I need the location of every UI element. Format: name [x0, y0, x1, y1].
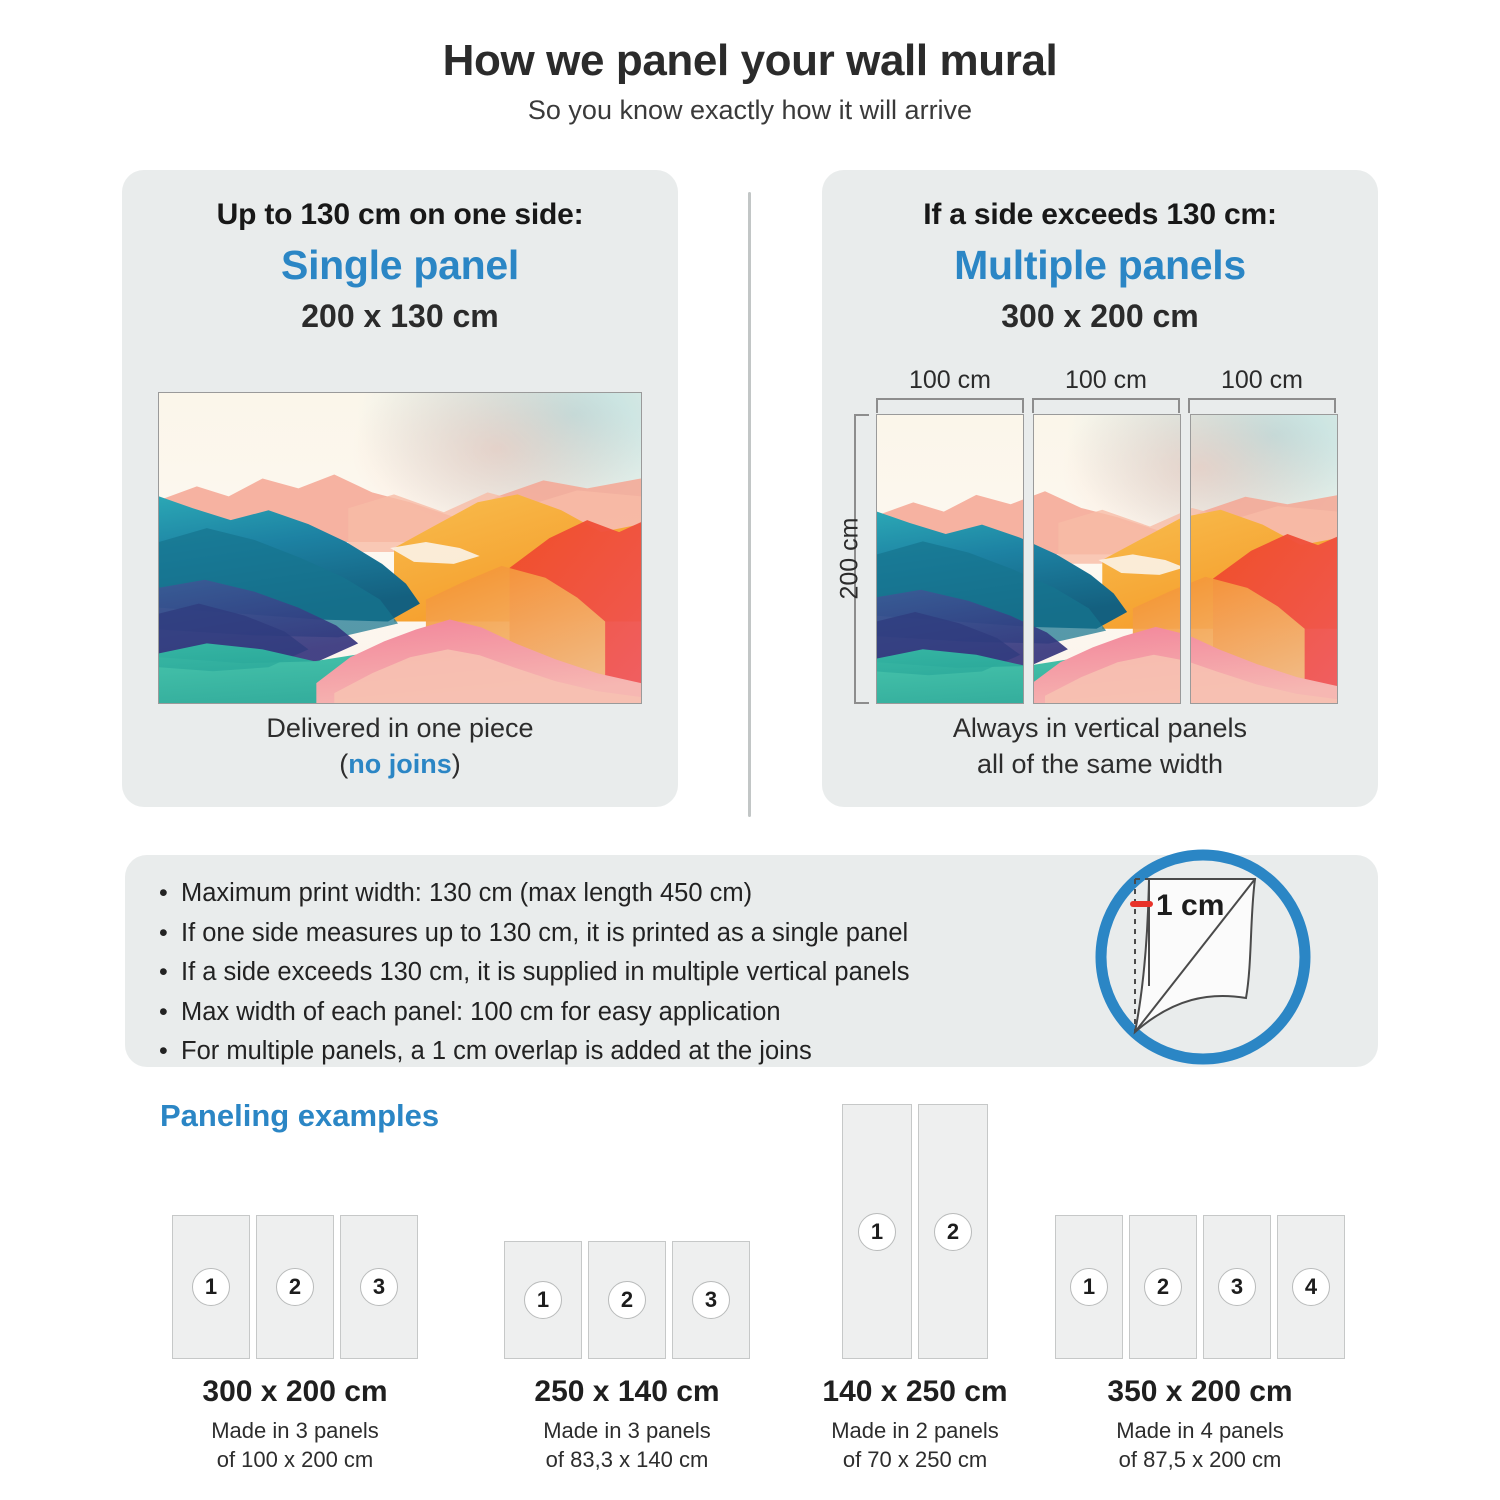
example-3: 1 2 140 x 250 cm Made in 2 panels of 70 …: [775, 1104, 1055, 1474]
example-1: 1 2 3 300 x 200 cm Made in 3 panels of 1…: [140, 1215, 450, 1474]
panel-width-bracket-1: [876, 398, 1024, 400]
panel-width-label-2: 100 cm: [1030, 366, 1182, 395]
panel-number: 2: [276, 1268, 314, 1306]
example-2: 1 2 3 250 x 140 cm Made in 3 panels of 8…: [477, 1215, 777, 1474]
example-4: 1 2 3 4 350 x 200 cm Made in 4 panels of…: [1040, 1215, 1360, 1474]
mini-panel: 1: [1055, 1215, 1123, 1359]
example-4-panels: 1 2 3 4: [1040, 1215, 1360, 1359]
panel-height-label: 200 cm: [836, 509, 865, 609]
panel-number: 1: [858, 1213, 896, 1251]
example-2-size: 250 x 140 cm: [477, 1375, 777, 1409]
mural-panel-1-svg: [877, 415, 1024, 704]
panel-width-label-1: 100 cm: [874, 366, 1026, 395]
mural-panel-2-art: [1033, 415, 1181, 703]
panel-number: 2: [608, 1281, 646, 1319]
mural-panel-3: [1190, 414, 1338, 704]
example-1-panels: 1 2 3: [140, 1215, 450, 1359]
example-2-made-line1: Made in 3 panels: [477, 1416, 777, 1445]
panel-number: 1: [524, 1281, 562, 1319]
example-1-made-line1: Made in 3 panels: [140, 1416, 450, 1445]
overlap-diagram-badge: 1 cm: [1092, 846, 1314, 1068]
multiple-panels-condition: If a side exceeds 130 cm:: [822, 198, 1378, 232]
example-3-panels: 1 2: [775, 1104, 1055, 1359]
mini-panel: 1: [172, 1215, 250, 1359]
list-item: If one side measures up to 130 cm, it is…: [155, 914, 910, 954]
page-header: How we panel your wall mural So you know…: [0, 0, 1500, 126]
single-panel-dimensions: 200 x 130 cm: [122, 298, 678, 335]
single-panel-footer-line1: Delivered in one piece: [122, 711, 678, 747]
example-1-made-line2: of 100 x 200 cm: [140, 1445, 450, 1474]
cards-divider: [748, 192, 751, 817]
mural-panel-1-art: [877, 415, 1024, 703]
mini-panel: 3: [1203, 1215, 1271, 1359]
mural-artwork-single: [158, 392, 642, 704]
multiple-panels-card: If a side exceeds 130 cm: Multiple panel…: [822, 170, 1378, 807]
single-panel-mode: Single panel: [122, 242, 678, 289]
panel-number: 3: [1218, 1268, 1256, 1306]
overlap-label: 1 cm: [1156, 889, 1224, 922]
multiple-panels-footer-line2: all of the same width: [822, 747, 1378, 783]
peeling-paper-corner-icon: 1 cm: [1092, 846, 1314, 1068]
single-panel-footer-line2: (no joins): [122, 747, 678, 783]
multiple-panels-mode: Multiple panels: [822, 242, 1378, 289]
panel-number: 4: [1292, 1268, 1330, 1306]
mural-panel-2-svg: [1033, 415, 1181, 704]
page-subtitle: So you know exactly how it will arrive: [0, 95, 1500, 126]
example-3-size: 140 x 250 cm: [775, 1375, 1055, 1409]
mural-panels-group: [876, 414, 1338, 704]
panel-number: 1: [1070, 1268, 1108, 1306]
list-item: Maximum print width: 130 cm (max length …: [155, 874, 910, 914]
list-item: Max width of each panel: 100 cm for easy…: [155, 993, 910, 1033]
panel-width-bracket-3: [1188, 398, 1336, 400]
mural-panel-3-svg: [1190, 415, 1338, 704]
paneling-examples-title: Paneling examples: [160, 1098, 439, 1134]
example-1-size: 300 x 200 cm: [140, 1375, 450, 1409]
paren-close: ): [452, 749, 461, 779]
mural-panel-1: [876, 414, 1024, 704]
panel-number: 2: [1144, 1268, 1182, 1306]
single-panel-card-head: Up to 130 cm on one side: Single panel 2…: [122, 170, 678, 335]
mural-panel-2: [1033, 414, 1181, 704]
example-3-made-line2: of 70 x 250 cm: [775, 1445, 1055, 1474]
panel-number: 1: [192, 1268, 230, 1306]
multiple-panels-dimensions: 300 x 200 cm: [822, 298, 1378, 335]
mini-panel: 3: [340, 1215, 418, 1359]
multiple-panels-footer-line1: Always in vertical panels: [822, 711, 1378, 747]
mini-panel: 3: [672, 1241, 750, 1359]
panel-number: 2: [934, 1213, 972, 1251]
mini-panel: 2: [1129, 1215, 1197, 1359]
list-item: For multiple panels, a 1 cm overlap is a…: [155, 1032, 910, 1072]
mini-panel: 1: [504, 1241, 582, 1359]
mini-panel: 1: [842, 1104, 912, 1359]
multiple-panels-footer: Always in vertical panels all of the sam…: [822, 711, 1378, 783]
multiple-panels-card-head: If a side exceeds 130 cm: Multiple panel…: [822, 170, 1378, 335]
single-panel-condition: Up to 130 cm on one side:: [122, 198, 678, 232]
mini-panel: 2: [918, 1104, 988, 1359]
mini-panel: 4: [1277, 1215, 1345, 1359]
mural-artwork-svg: [159, 393, 641, 703]
panel-number: 3: [360, 1268, 398, 1306]
panel-width-label-3: 100 cm: [1186, 366, 1338, 395]
mini-panel: 2: [588, 1241, 666, 1359]
example-2-made-line2: of 83,3 x 140 cm: [477, 1445, 777, 1474]
example-4-made-line2: of 87,5 x 200 cm: [1040, 1445, 1360, 1474]
panel-number: 3: [692, 1281, 730, 1319]
example-4-made-line1: Made in 4 panels: [1040, 1416, 1360, 1445]
no-joins-highlight: no joins: [348, 749, 452, 779]
paren-open: (: [339, 749, 348, 779]
comparison-row: Up to 130 cm on one side: Single panel 2…: [0, 170, 1500, 815]
panel-width-bracket-2: [1032, 398, 1180, 400]
example-3-made-line1: Made in 2 panels: [775, 1416, 1055, 1445]
specifications-list: Maximum print width: 130 cm (max length …: [155, 874, 910, 1072]
single-panel-card: Up to 130 cm on one side: Single panel 2…: [122, 170, 678, 807]
mini-panel: 2: [256, 1215, 334, 1359]
mural-panel-3-art: [1190, 415, 1338, 703]
example-2-panels: 1 2 3: [477, 1215, 777, 1359]
list-item: If a side exceeds 130 cm, it is supplied…: [155, 953, 910, 993]
example-4-size: 350 x 200 cm: [1040, 1375, 1360, 1409]
single-panel-footer: Delivered in one piece (no joins): [122, 711, 678, 783]
page-title: How we panel your wall mural: [0, 36, 1500, 86]
